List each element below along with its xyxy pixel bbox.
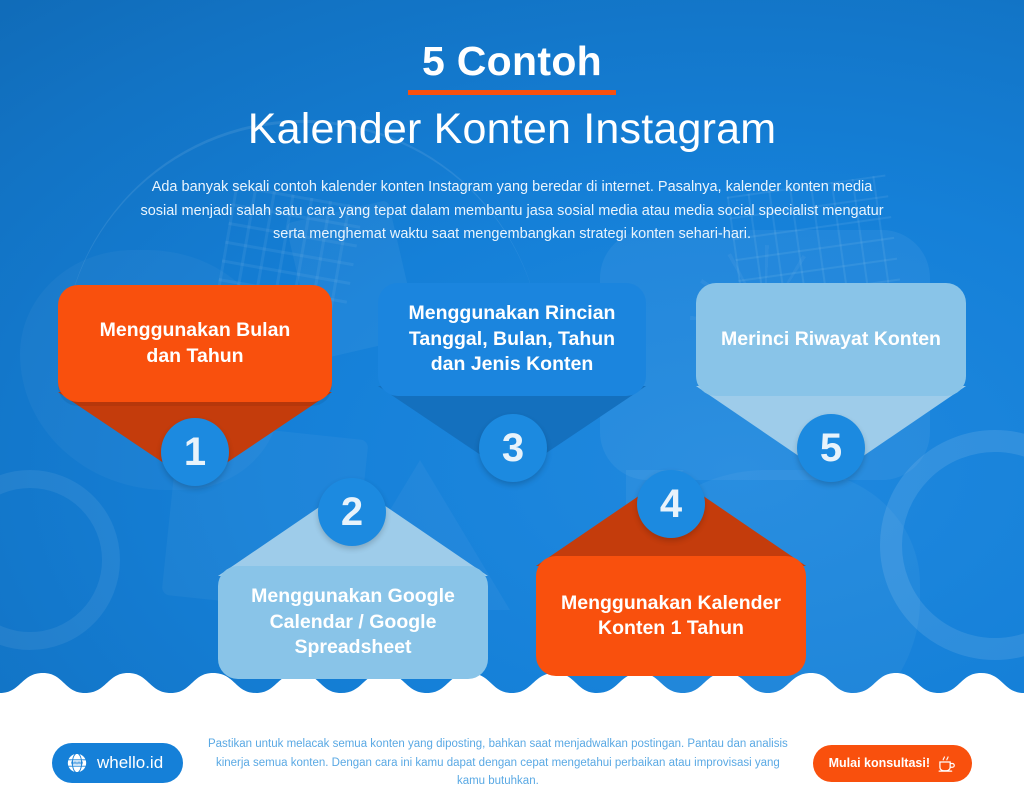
brand-label: whello.id	[97, 753, 163, 773]
footer: www whello.id Pastikan untuk melacak sem…	[0, 715, 1024, 811]
step-card-2: Menggunakan Google Calendar / Google Spr…	[218, 566, 488, 679]
step-number-2: 2	[318, 478, 386, 546]
step-card-4-label: Menggunakan Kalender Konten 1 Tahun	[536, 556, 806, 676]
footer-paragraph: Pastikan untuk melacak semua konten yang…	[183, 735, 812, 792]
page-title-main: 5 Contoh	[408, 40, 616, 95]
step-card-5-label: Merinci Riwayat Konten	[696, 283, 966, 396]
coffee-cup-icon	[937, 754, 956, 773]
infographic-poster: 5 Contoh Kalender Konten Instagram Ada b…	[0, 0, 1024, 811]
step-card-1-label: Menggunakan Bulan dan Tahun	[58, 285, 332, 402]
step-number-1: 1	[161, 418, 229, 486]
brand-logo-button[interactable]: www whello.id	[52, 743, 183, 783]
step-card-3-label: Menggunakan Rincian Tanggal, Bulan, Tahu…	[378, 283, 646, 396]
wave-divider-icon	[0, 673, 1024, 715]
svg-text:www: www	[70, 760, 83, 766]
step-card-3: Menggunakan Rincian Tanggal, Bulan, Tahu…	[378, 283, 646, 396]
step-card-1: Menggunakan Bulan dan Tahun	[58, 285, 332, 402]
step-card-5: Merinci Riwayat Konten	[696, 283, 966, 396]
ring-decoration-left-icon	[0, 470, 120, 650]
header: 5 Contoh Kalender Konten Instagram Ada b…	[0, 40, 1024, 247]
cta-label: Mulai konsultasi!	[829, 756, 930, 770]
intro-paragraph: Ada banyak sekali contoh kalender konten…	[132, 176, 892, 246]
step-card-2-label: Menggunakan Google Calendar / Google Spr…	[218, 566, 488, 679]
page-title-sub: Kalender Konten Instagram	[0, 105, 1024, 154]
step-number-3: 3	[479, 414, 547, 482]
start-consultation-button[interactable]: Mulai konsultasi!	[813, 745, 972, 782]
step-number-5: 5	[797, 414, 865, 482]
step-card-4: Menggunakan Kalender Konten 1 Tahun	[536, 556, 806, 676]
globe-www-icon: www	[66, 752, 88, 774]
step-number-4: 4	[637, 470, 705, 538]
